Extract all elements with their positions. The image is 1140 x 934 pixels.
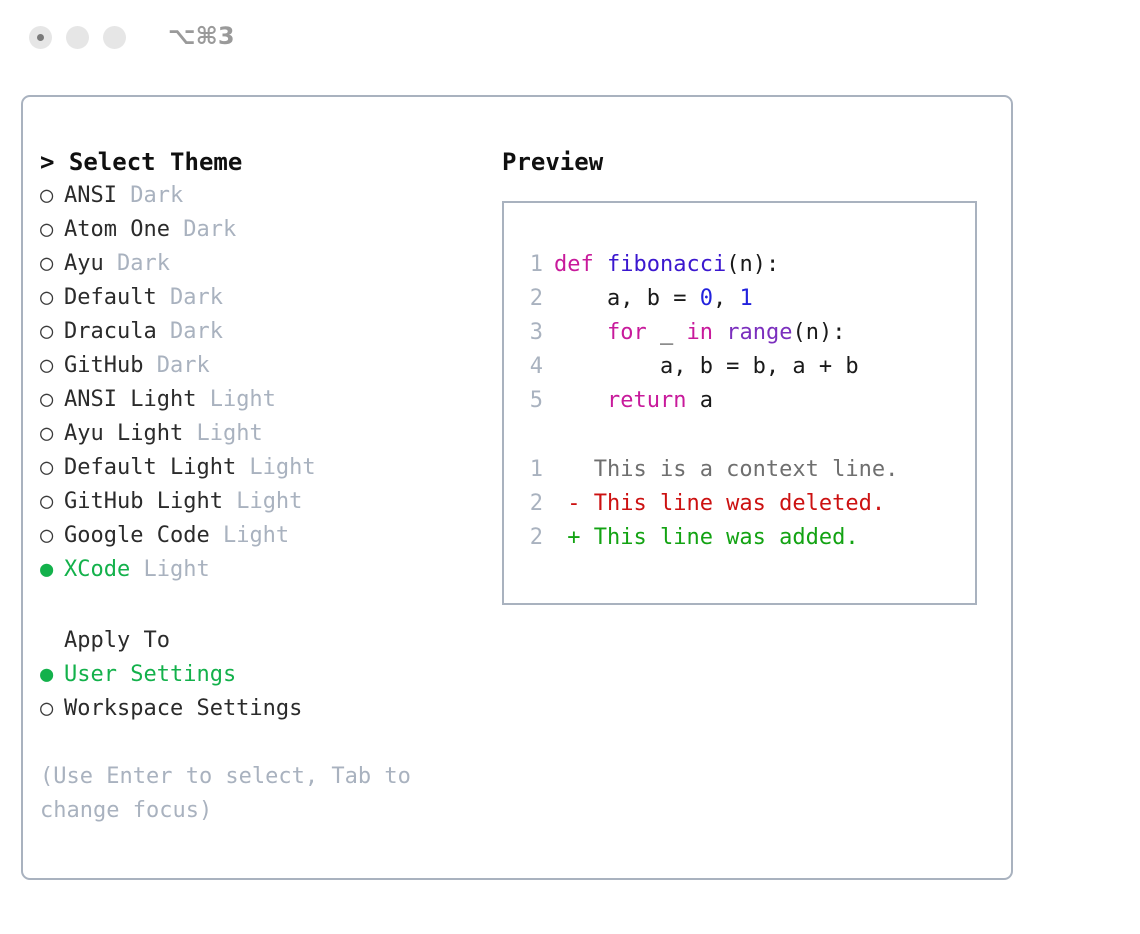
theme-item-github[interactable]: ○GitHub Dark <box>40 349 490 383</box>
code-line-number: 1 <box>517 248 543 282</box>
theme-item-atom-one[interactable]: ○Atom One Dark <box>40 213 490 247</box>
theme-item-name: Dracula <box>64 319 157 344</box>
code-line: 4 a, b = b, a + b <box>517 350 969 384</box>
code-line-number: 4 <box>517 350 543 384</box>
radio-unselected-icon: ○ <box>40 247 64 281</box>
code-token-kw: in <box>686 320 713 345</box>
theme-item-ansi-light[interactable]: ○ANSI Light Light <box>40 383 490 417</box>
apply-to-label: Apply To <box>40 624 490 658</box>
theme-item-kind: Dark <box>117 183 183 208</box>
code-token-plain: a, b = b, a + b <box>554 354 859 379</box>
code-token-plain <box>554 388 607 413</box>
theme-item-default[interactable]: ○Default Dark <box>40 281 490 315</box>
preview-column: Preview 1def fibonacci(n):2 a, b = 0, 13… <box>502 145 982 605</box>
dot-two-icon[interactable] <box>66 26 89 49</box>
radio-unselected-icon: ○ <box>40 383 64 417</box>
radio-unselected-icon: ○ <box>40 281 64 315</box>
theme-item-kind: Dark <box>104 251 170 276</box>
theme-item-kind: Dark <box>170 217 236 242</box>
theme-picker-column: > Select Theme ○ANSI Dark○Atom One Dark○… <box>40 145 490 828</box>
radio-selected-icon: ● <box>40 658 64 692</box>
code-token-num: 1 <box>739 286 752 311</box>
theme-item-name: Atom One <box>64 217 170 242</box>
apply-to-option-label: User Settings <box>64 662 236 687</box>
radio-unselected-icon: ○ <box>40 213 64 247</box>
code-token-plain: (n): <box>726 252 779 277</box>
theme-item-kind: Light <box>236 455 315 480</box>
radio-selected-icon: ● <box>40 553 64 587</box>
code-token-plain: a, b = <box>554 286 700 311</box>
diff-line-text: - This line was deleted. <box>554 491 885 516</box>
apply-to-section: Apply To ●User Settings○Workspace Settin… <box>40 624 490 726</box>
radio-unselected-icon: ○ <box>40 692 64 726</box>
code-line-number: 2 <box>517 282 543 316</box>
theme-item-name: Default Light <box>64 455 236 480</box>
theme-item-name: Default <box>64 285 157 310</box>
theme-item-ayu-light[interactable]: ○Ayu Light Light <box>40 417 490 451</box>
diff-sample: 1 This is a context line.2 - This line w… <box>517 453 969 555</box>
code-token-plain: _ <box>647 320 687 345</box>
select-theme-header: > Select Theme <box>40 145 490 179</box>
code-token-plain: a <box>686 388 713 413</box>
theme-item-name: Ayu <box>64 251 104 276</box>
theme-item-default-light[interactable]: ○Default Light Light <box>40 451 490 485</box>
code-line: 3 for _ in range(n): <box>517 316 969 350</box>
code-token-bi: range <box>726 320 792 345</box>
code-line: 5 return a <box>517 384 969 418</box>
theme-item-github-light[interactable]: ○GitHub Light Light <box>40 485 490 519</box>
preview-box: 1def fibonacci(n):2 a, b = 0, 13 for _ i… <box>502 201 977 605</box>
radio-unselected-icon: ○ <box>40 485 64 519</box>
code-token-kw: for <box>607 320 647 345</box>
theme-item-kind: Light <box>223 489 302 514</box>
theme-item-name: ANSI Light <box>64 387 196 412</box>
radio-unselected-icon: ○ <box>40 451 64 485</box>
code-token-fn: fibonacci <box>607 252 726 277</box>
keyboard-hint: (Use Enter to select, Tab to change focu… <box>40 760 450 828</box>
theme-item-dracula[interactable]: ○Dracula Dark <box>40 315 490 349</box>
theme-list: ○ANSI Dark○Atom One Dark○Ayu Dark○Defaul… <box>40 179 490 587</box>
apply-to-option-workspace-settings[interactable]: ○Workspace Settings <box>40 692 490 726</box>
theme-item-ansi[interactable]: ○ANSI Dark <box>40 179 490 213</box>
diff-line: 2 - This line was deleted. <box>517 487 969 521</box>
code-line-number: 5 <box>517 384 543 418</box>
theme-item-ayu[interactable]: ○Ayu Dark <box>40 247 490 281</box>
code-line-number: 3 <box>517 316 543 350</box>
theme-item-kind: Dark <box>143 353 209 378</box>
code-token-kw: def <box>554 252 607 277</box>
diff-line-number: 2 <box>517 521 543 555</box>
theme-item-name: ANSI <box>64 183 117 208</box>
code-token-num: 0 <box>700 286 713 311</box>
app-window: ⌥⌘3 > Select Theme ○ANSI Dark○Atom One D… <box>0 0 1140 934</box>
title-bar: ⌥⌘3 <box>0 0 1140 76</box>
radio-unselected-icon: ○ <box>40 519 64 553</box>
code-token-plain <box>713 320 726 345</box>
diff-line-number: 2 <box>517 487 543 521</box>
theme-item-xcode[interactable]: ●XCode Light <box>40 553 490 587</box>
theme-item-name: GitHub <box>64 353 143 378</box>
code-token-kw: return <box>607 388 686 413</box>
code-line: 2 a, b = 0, 1 <box>517 282 969 316</box>
apply-to-options: ●User Settings○Workspace Settings <box>40 658 490 726</box>
code-sample: 1def fibonacci(n):2 a, b = 0, 13 for _ i… <box>517 248 969 418</box>
radio-unselected-icon: ○ <box>40 315 64 349</box>
code-token-plain: (n): <box>792 320 845 345</box>
diff-line-text: + This line was added. <box>554 525 859 550</box>
diff-line: 1 This is a context line. <box>517 453 969 487</box>
theme-item-name: GitHub Light <box>64 489 223 514</box>
theme-item-kind: Light <box>210 523 289 548</box>
diff-line: 2 + This line was added. <box>517 521 969 555</box>
diff-line-text: This is a context line. <box>554 457 898 482</box>
theme-item-name: Google Code <box>64 523 210 548</box>
theme-item-name: Ayu Light <box>64 421 183 446</box>
code-token-plain <box>554 320 607 345</box>
radio-unselected-icon: ○ <box>40 417 64 451</box>
dot-three-icon[interactable] <box>103 26 126 49</box>
apply-to-option-user-settings[interactable]: ●User Settings <box>40 658 490 692</box>
apply-to-option-label: Workspace Settings <box>64 696 302 721</box>
radio-unselected-icon: ○ <box>40 349 64 383</box>
theme-item-kind: Light <box>183 421 262 446</box>
record-dot-icon[interactable] <box>29 26 52 49</box>
radio-unselected-icon: ○ <box>40 179 64 213</box>
theme-item-kind: Dark <box>157 285 223 310</box>
code-line: 1def fibonacci(n): <box>517 248 969 282</box>
theme-item-kind: Light <box>130 557 209 582</box>
theme-item-name: XCode <box>64 557 130 582</box>
theme-item-kind: Light <box>196 387 275 412</box>
traffic-light-group <box>29 26 126 49</box>
code-token-plain: , <box>713 286 740 311</box>
diff-line-number: 1 <box>517 453 543 487</box>
preview-title: Preview <box>502 145 982 179</box>
theme-item-kind: Dark <box>157 319 223 344</box>
theme-item-google-code[interactable]: ○Google Code Light <box>40 519 490 553</box>
shortcut-label: ⌥⌘3 <box>168 22 235 50</box>
main-panel: > Select Theme ○ANSI Dark○Atom One Dark○… <box>21 95 1013 880</box>
